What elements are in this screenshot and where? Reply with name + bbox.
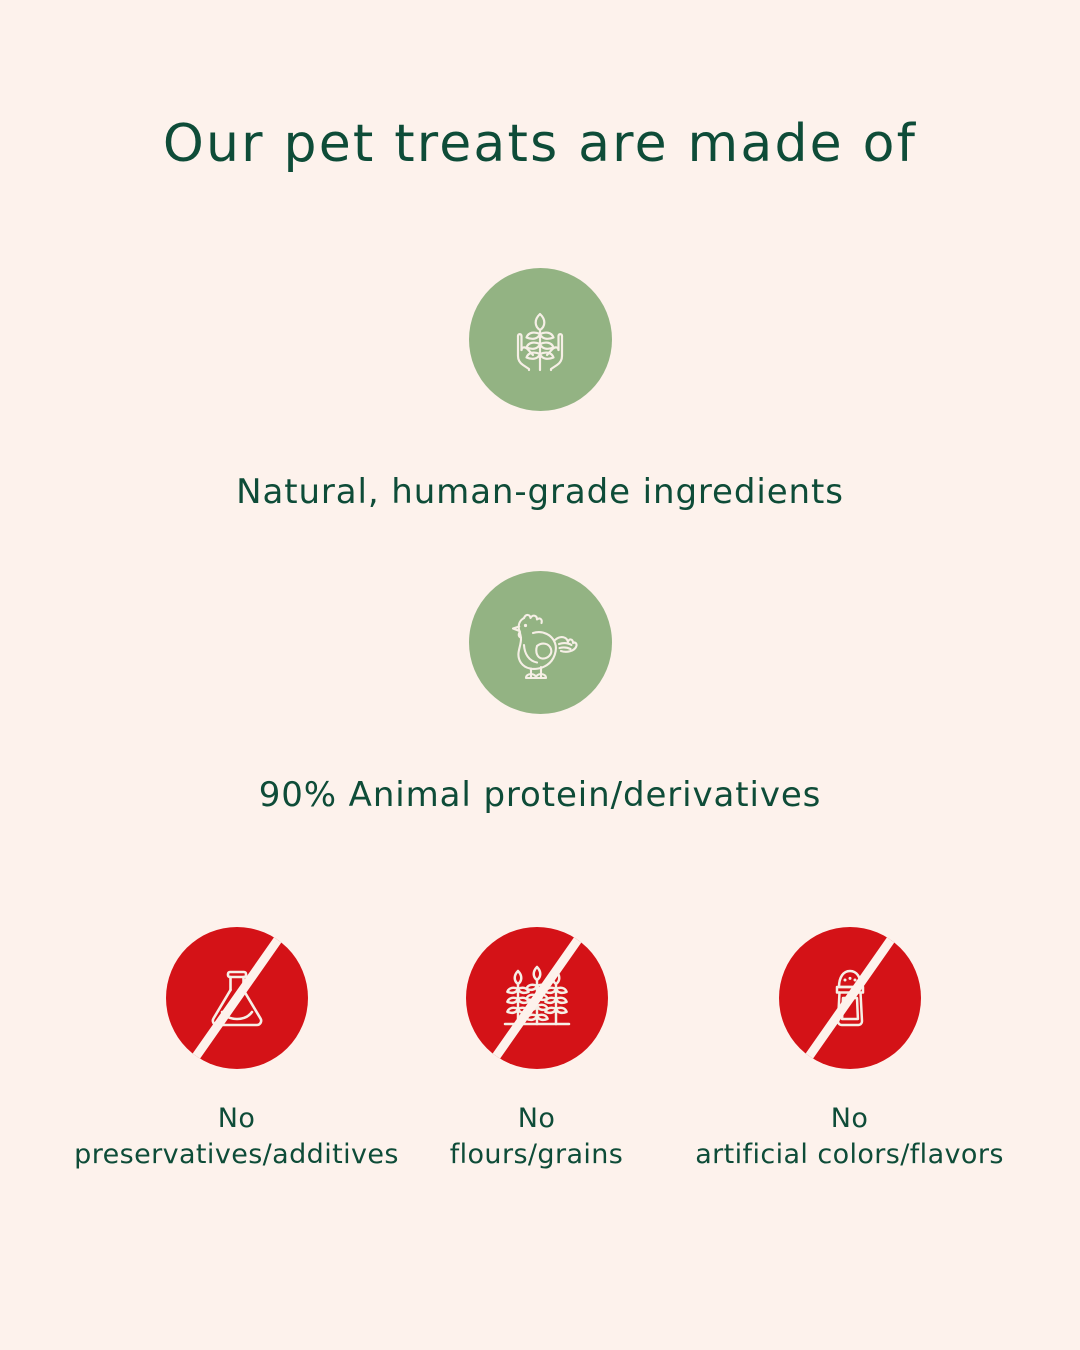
feature-animal-protein: 90% Animal protein/derivatives <box>0 571 1080 814</box>
exclusion-flours-grains: No flours/grains <box>387 927 687 1172</box>
exclusion-line-2: preservatives/additives <box>74 1137 399 1173</box>
chicken-icon <box>497 600 583 686</box>
exclusion-caption: No flours/grains <box>450 1101 624 1172</box>
exclusion-line-2: flours/grains <box>450 1137 624 1173</box>
no-grains-badge <box>466 927 608 1069</box>
page-title: Our pet treats are made of <box>0 118 1080 170</box>
exclusion-artificial-colors: No artificial colors/flavors <box>700 927 1000 1172</box>
exclusion-line-1: No <box>74 1101 399 1137</box>
strike-through-line <box>467 927 606 1069</box>
hands-holding-plant-icon <box>498 298 582 382</box>
exclusions-row: No preservatives/additives <box>0 927 1080 1172</box>
hands-holding-plant-badge <box>469 268 612 411</box>
strike-through-line <box>167 927 306 1069</box>
exclusion-line-1: No <box>450 1101 624 1137</box>
exclusion-line-1: No <box>695 1101 1004 1137</box>
exclusion-preservatives: No preservatives/additives <box>87 927 387 1172</box>
no-artificial-badge <box>779 927 921 1069</box>
exclusion-caption: No artificial colors/flavors <box>695 1101 1004 1172</box>
chicken-badge <box>469 571 612 714</box>
strike-through-line <box>780 927 919 1069</box>
exclusion-caption: No preservatives/additives <box>74 1101 399 1172</box>
no-preservatives-badge <box>166 927 308 1069</box>
feature-natural-ingredients: Natural, human-grade ingredients <box>0 268 1080 511</box>
feature-caption: Natural, human-grade ingredients <box>0 473 1080 511</box>
exclusion-line-2: artificial colors/flavors <box>695 1137 1004 1173</box>
feature-caption: 90% Animal protein/derivatives <box>0 776 1080 814</box>
infographic-poster: Our pet treats are made of <box>0 0 1080 1350</box>
